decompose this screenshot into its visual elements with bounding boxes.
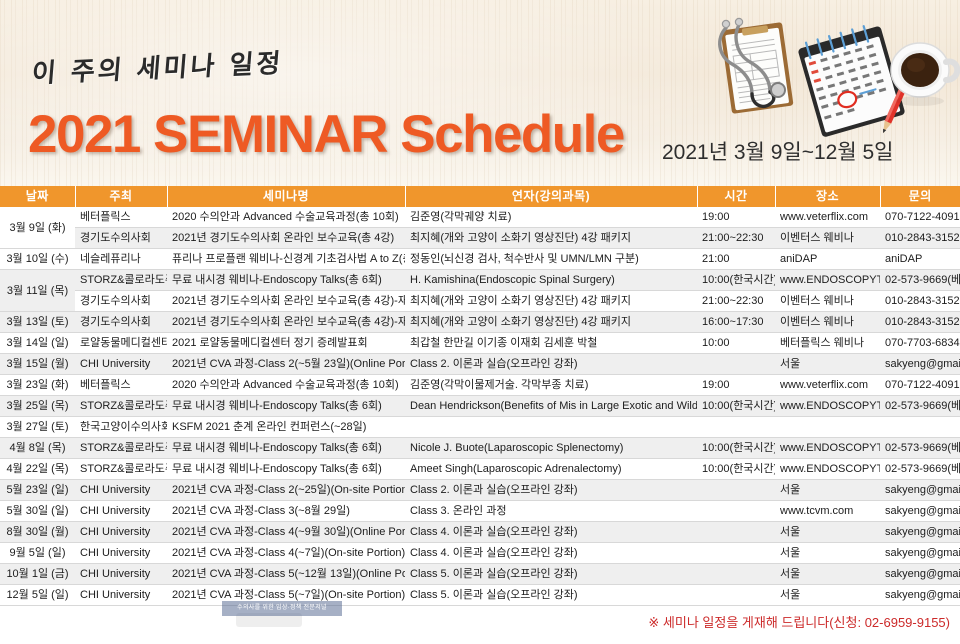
cell-place: 베터플릭스 웨비나 [775, 333, 880, 354]
cell-place: www.tcvm.com [775, 501, 880, 522]
cell-contact: sakyeng@gmail.com [880, 585, 960, 606]
date-month-day: 3월 25일 [6, 396, 48, 416]
cell-speaker: 최지혜(개와 고양이 소화기 영상진단) 4강 패키지 [405, 291, 697, 312]
table-row: 10월 1일(금)CHI University2021년 CVA 과정-Clas… [0, 564, 960, 585]
date-month-day: 4월 22일 [6, 459, 48, 479]
cell-time: 10:00(한국시간) [697, 459, 775, 480]
schedule-table: 날짜 주최 세미나명 연자(강의과목) 시간 장소 문의 3월 9일(화)베터플… [0, 186, 960, 606]
seminar-schedule-page: 이 주의 세미나 일정 2021 SEMINAR Schedule 2021년 … [0, 0, 960, 644]
date-month-day: 9월 5일 [10, 543, 46, 563]
cell-speaker: Dean Hendrickson(Benefits of Mis in Larg… [405, 396, 697, 417]
cell-date: 3월 25일(목) [0, 396, 75, 417]
cell-contact: 02-573-9669(베트컴) [880, 459, 960, 480]
cell-contact: 02-573-9669(베트컴) [880, 270, 960, 291]
date-weekday: (일) [51, 585, 68, 605]
footer-note: ※ 세미나 일정을 게재해 드립니다(신청: 02-6959-9155) [0, 606, 960, 631]
cell-seminar-name: 2020 수의안과 Advanced 수술교육과정(총 10회) [167, 375, 405, 396]
cell-speaker: Class 3. 온라인 과정 [405, 501, 697, 522]
cell-contact: 010-2843-3152(에듀켓) [880, 291, 960, 312]
cell-organizer: CHI University [75, 543, 167, 564]
header-korean-tagline: 이 주의 세미나 일정 [31, 43, 285, 91]
cell-seminar-name: 2021년 CVA 과정-Class 4(~7일)(On-site Portio… [167, 543, 405, 564]
cell-organizer: 베터플릭스 [75, 207, 167, 228]
cell-organizer: 네슬레퓨리나 [75, 249, 167, 270]
date-month-day: 12월 5일 [6, 585, 48, 605]
date-weekday: (월) [51, 522, 68, 542]
cell-speaker: Class 4. 이론과 실습(오프라인 강좌) [405, 543, 697, 564]
cell-speaker: Class 5. 이론과 실습(오프라인 강좌) [405, 585, 697, 606]
table-row: 3월 10일(수)네슬레퓨리나퓨리나 프로플랜 웨비나-신경계 기초검사법 A … [0, 249, 960, 270]
date-weekday: (일) [51, 480, 68, 500]
cell-organizer: 로얄동물메디컬센터 [75, 333, 167, 354]
cell-seminar-name: 2021년 CVA 과정-Class 5(~12월 13일)(Online Po… [167, 564, 405, 585]
cell-place: www.ENDOSCOPYTalks.com [775, 396, 880, 417]
cell-time [697, 585, 775, 606]
cell-place: www.ENDOSCOPYTalks.com [775, 459, 880, 480]
cell-time [697, 480, 775, 501]
cell-date: 3월 9일(화) [0, 207, 75, 249]
cell-place: 서울 [775, 585, 880, 606]
date-weekday: (목) [51, 459, 68, 479]
cell-date: 8월 30일(월) [0, 522, 75, 543]
col-header-place: 장소 [775, 186, 880, 207]
cell-contact: sakyeng@gmail.com [880, 522, 960, 543]
col-header-organizer: 주최 [75, 186, 167, 207]
table-body: 3월 9일(화)베터플릭스2020 수의안과 Advanced 수술교육과정(총… [0, 207, 960, 606]
cell-place: www.veterflix.com [775, 375, 880, 396]
cell-place: www.ENDOSCOPYTalks.com [775, 270, 880, 291]
page-header: 이 주의 세미나 일정 2021 SEMINAR Schedule 2021년 … [0, 0, 960, 186]
cell-organizer: 경기도수의사회 [75, 291, 167, 312]
table-row: 3월 14일(일)로얄동물메디컬센터2021 로얄동물메디컬센터 정기 증례발표… [0, 333, 960, 354]
cell-seminar-name: 2021년 경기도수의사회 온라인 보수교육(총 4강)-재방송(4강) [167, 291, 405, 312]
cell-speaker: H. Kamishina(Endoscopic Spinal Surgery) [405, 270, 697, 291]
cell-contact: 02-573-9669(베트컴) [880, 396, 960, 417]
cell-place: www.ENDOSCOPYTalks.com [775, 438, 880, 459]
cell-speaker: Class 4. 이론과 실습(오프라인 강좌) [405, 522, 697, 543]
cell-contact: 010-2843-3152(에듀켓) [880, 312, 960, 333]
date-weekday: (일) [51, 333, 68, 353]
cell-contact: 070-7122-4091 [880, 375, 960, 396]
cell-time [697, 501, 775, 522]
date-weekday: (화) [48, 218, 65, 238]
date-weekday: (토) [51, 417, 68, 437]
cell-organizer: 경기도수의사회 [75, 228, 167, 249]
col-header-date: 날짜 [0, 186, 75, 207]
cell-place [775, 417, 880, 438]
cell-time [697, 564, 775, 585]
table-row: 3월 13일(토)경기도수의사회2021년 경기도수의사회 온라인 보수교육(총… [0, 312, 960, 333]
cell-seminar-name: 2021 로얄동물메디컬센터 정기 증례발표회 [167, 333, 405, 354]
cell-seminar-name: 2021년 경기도수의사회 온라인 보수교육(총 4강)-재방송(4강) [167, 312, 405, 333]
date-weekday: (토) [51, 312, 68, 332]
cell-contact: 010-2843-3152(에듀켓) [880, 228, 960, 249]
date-weekday: (목) [51, 281, 68, 301]
date-weekday: (월) [51, 354, 68, 374]
cell-organizer: STORZ&콜로라도주립대 [75, 270, 167, 291]
cell-speaker: 김준영(각막궤양 치료) [405, 207, 697, 228]
cell-place: 서울 [775, 480, 880, 501]
cell-speaker: 김준영(각막이물제거술. 각막부종 치료) [405, 375, 697, 396]
cell-time: 21:00 [697, 249, 775, 270]
date-month-day: 3월 11일 [7, 281, 48, 301]
table-header-row: 날짜 주최 세미나명 연자(강의과목) 시간 장소 문의 [0, 186, 960, 207]
cell-date: 3월 14일(일) [0, 333, 75, 354]
table-row: 8월 30일(월)CHI University2021년 CVA 과정-Clas… [0, 522, 960, 543]
cell-organizer: CHI University [75, 480, 167, 501]
cell-contact: sakyeng@gmail.com [880, 543, 960, 564]
table-row: 경기도수의사회2021년 경기도수의사회 온라인 보수교육(총 4강)-재방송(… [0, 291, 960, 312]
date-weekday: (화) [51, 375, 68, 395]
cell-speaker [405, 417, 697, 438]
cell-place: 이벤터스 웨비나 [775, 291, 880, 312]
cell-place: www.veterflix.com [775, 207, 880, 228]
date-month-day: 3월 9일 [10, 218, 46, 238]
cell-contact: aniDAP [880, 249, 960, 270]
cell-speaker: 최지혜(개와 고양이 소화기 영상진단) 4강 패키지 [405, 312, 697, 333]
cell-date: 3월 11일(목) [0, 270, 75, 312]
date-weekday: (일) [48, 543, 65, 563]
date-month-day: 3월 23일 [6, 375, 48, 395]
cell-place: 이벤터스 웨비나 [775, 312, 880, 333]
col-header-seminar-name: 세미나명 [167, 186, 405, 207]
cell-seminar-name: 퓨리나 프로플랜 웨비나-신경계 기초검사법 A to Z(총 3강) [167, 249, 405, 270]
cell-organizer: CHI University [75, 585, 167, 606]
cell-seminar-name: 무료 내시경 웨비나-Endoscopy Talks(총 6회) [167, 438, 405, 459]
table-row: 3월 9일(화)베터플릭스2020 수의안과 Advanced 수술교육과정(총… [0, 207, 960, 228]
date-month-day: 4월 8일 [10, 438, 46, 458]
cell-contact: sakyeng@gmail.com [880, 354, 960, 375]
cell-organizer: STORZ&콜로라도주립대 [75, 459, 167, 480]
cell-organizer: STORZ&콜로라도주립대 [75, 396, 167, 417]
cell-seminar-name: 2020 수의안과 Advanced 수술교육과정(총 10회) [167, 207, 405, 228]
cell-contact: 070-7703-6834 [880, 333, 960, 354]
cell-seminar-name: 2021년 CVA 과정-Class 4(~9월 30일)(Online Por… [167, 522, 405, 543]
table-row: 3월 23일(화)베터플릭스2020 수의안과 Advanced 수술교육과정(… [0, 375, 960, 396]
cell-place: 서울 [775, 543, 880, 564]
col-header-contact: 문의 [880, 186, 960, 207]
date-month-day: 3월 14일 [6, 333, 48, 353]
cell-speaker: Class 2. 이론과 실습(오프라인 강좌) [405, 480, 697, 501]
cell-seminar-name: 무료 내시경 웨비나-Endoscopy Talks(총 6회) [167, 459, 405, 480]
cell-date: 5월 23일(일) [0, 480, 75, 501]
cell-seminar-name: 무료 내시경 웨비나-Endoscopy Talks(총 6회) [167, 396, 405, 417]
cell-contact: sakyeng@gmail.com [880, 501, 960, 522]
col-header-time: 시간 [697, 186, 775, 207]
cell-seminar-name: 2021년 경기도수의사회 온라인 보수교육(총 4강) [167, 228, 405, 249]
date-weekday: (수) [51, 249, 68, 269]
cell-date: 3월 13일(토) [0, 312, 75, 333]
cell-date: 4월 8일(목) [0, 438, 75, 459]
cell-time: 16:00~17:30 [697, 312, 775, 333]
cell-seminar-name: 2021년 CVA 과정-Class 5(~7일)(On-site Portio… [167, 585, 405, 606]
cell-speaker: 최갑철 한만길 이기종 이재회 김세훈 박철 [405, 333, 697, 354]
cell-date: 9월 5일(일) [0, 543, 75, 564]
schedule-table-wrapper: 날짜 주최 세미나명 연자(강의과목) 시간 장소 문의 3월 9일(화)베터플… [0, 186, 960, 631]
table-row: 3월 15일(월)CHI University2021년 CVA 과정-Clas… [0, 354, 960, 375]
date-month-day: 5월 23일 [6, 480, 48, 500]
cell-place: 서울 [775, 564, 880, 585]
header-date-range: 2021년 3월 9일~12월 5일 [662, 136, 893, 166]
cell-time: 19:00 [697, 375, 775, 396]
table-row: 3월 27일(토)한국고양이수의사회KSFM 2021 춘계 온라인 컨퍼런스(… [0, 417, 960, 438]
date-weekday: (목) [51, 396, 68, 416]
table-row: 4월 22일(목)STORZ&콜로라도주립대무료 내시경 웨비나-Endosco… [0, 459, 960, 480]
cell-date: 3월 27일(토) [0, 417, 75, 438]
cell-seminar-name: 무료 내시경 웨비나-Endoscopy Talks(총 6회) [167, 270, 405, 291]
cell-time: 10:00 [697, 333, 775, 354]
table-row: 4월 8일(목)STORZ&콜로라도주립대무료 내시경 웨비나-Endoscop… [0, 438, 960, 459]
cell-place: 서울 [775, 354, 880, 375]
date-month-day: 3월 27일 [6, 417, 48, 437]
cell-time [697, 354, 775, 375]
cell-time [697, 522, 775, 543]
cell-organizer: 경기도수의사회 [75, 312, 167, 333]
date-month-day: 10월 1일 [6, 564, 48, 584]
cell-contact: 070-7122-4091 [880, 207, 960, 228]
table-row: 5월 23일(일)CHI University2021년 CVA 과정-Clas… [0, 480, 960, 501]
table-row: 9월 5일(일)CHI University2021년 CVA 과정-Class… [0, 543, 960, 564]
cell-organizer: CHI University [75, 522, 167, 543]
cell-time: 10:00(한국시간) [697, 438, 775, 459]
cell-seminar-name: KSFM 2021 춘계 온라인 컨퍼런스(~28일) [167, 417, 405, 438]
cell-time [697, 543, 775, 564]
cell-time: 10:00(한국시간) [697, 270, 775, 291]
cell-organizer: CHI University [75, 354, 167, 375]
cell-speaker: Class 2. 이론과 실습(오프라인 강좌) [405, 354, 697, 375]
cell-date: 12월 5일(일) [0, 585, 75, 606]
cell-date: 5월 30일(일) [0, 501, 75, 522]
cell-time: 21:00~22:30 [697, 291, 775, 312]
cell-speaker: 최지혜(개와 고양이 소화기 영상진단) 4강 패키지 [405, 228, 697, 249]
table-row: 5월 30일(일)CHI University2021년 CVA 과정-Clas… [0, 501, 960, 522]
table-row: 3월 25일(목)STORZ&콜로라도주립대무료 내시경 웨비나-Endosco… [0, 396, 960, 417]
cell-date: 3월 10일(수) [0, 249, 75, 270]
cell-place: 서울 [775, 522, 880, 543]
desk-illustration [690, 0, 960, 150]
cell-place: aniDAP [775, 249, 880, 270]
table-row: 경기도수의사회2021년 경기도수의사회 온라인 보수교육(총 4강)최지혜(개… [0, 228, 960, 249]
date-month-day: 8월 30일 [6, 522, 48, 542]
page-title: 2021 SEMINAR Schedule [28, 104, 624, 165]
cell-organizer: STORZ&콜로라도주립대 [75, 438, 167, 459]
cell-time: 21:00~22:30 [697, 228, 775, 249]
date-month-day: 3월 10일 [6, 249, 48, 269]
date-weekday: (일) [51, 501, 68, 521]
cell-organizer: 베터플릭스 [75, 375, 167, 396]
date-month-day: 5월 30일 [6, 501, 48, 521]
cell-organizer: CHI University [75, 501, 167, 522]
date-weekday: (금) [51, 564, 68, 584]
cell-speaker: Nicole J. Buote(Laparoscopic Splenectomy… [405, 438, 697, 459]
cell-contact: sakyeng@gmail.com [880, 480, 960, 501]
cell-time: 10:00(한국시간) [697, 396, 775, 417]
cell-organizer: CHI University [75, 564, 167, 585]
cell-speaker: Ameet Singh(Laparoscopic Adrenalectomy) [405, 459, 697, 480]
cell-contact: 02-573-9669(베트컴) [880, 438, 960, 459]
date-month-day: 3월 15일 [6, 354, 48, 374]
table-row: 3월 11일(목)STORZ&콜로라도주립대무료 내시경 웨비나-Endosco… [0, 270, 960, 291]
cell-date: 4월 22일(목) [0, 459, 75, 480]
cell-date: 3월 23일(화) [0, 375, 75, 396]
date-weekday: (목) [48, 438, 65, 458]
cell-place: 이벤터스 웨비나 [775, 228, 880, 249]
cell-date: 10월 1일(금) [0, 564, 75, 585]
cell-organizer: 한국고양이수의사회 [75, 417, 167, 438]
table-row: 12월 5일(일)CHI University2021년 CVA 과정-Clas… [0, 585, 960, 606]
date-month-day: 3월 13일 [6, 312, 48, 332]
cell-speaker: 정동인(뇌신경 검사, 척수반사 및 UMN/LMN 구분) [405, 249, 697, 270]
cell-seminar-name: 2021년 CVA 과정-Class 2(~5월 23일)(Online Por… [167, 354, 405, 375]
cell-contact [880, 417, 960, 438]
cell-date: 3월 15일(월) [0, 354, 75, 375]
cell-time [697, 417, 775, 438]
cell-seminar-name: 2021년 CVA 과정-Class 2(~25일)(On-site Porti… [167, 480, 405, 501]
col-header-speaker: 연자(강의과목) [405, 186, 697, 207]
cell-seminar-name: 2021년 CVA 과정-Class 3(~8월 29일) [167, 501, 405, 522]
cell-contact: sakyeng@gmail.com [880, 564, 960, 585]
cell-time: 19:00 [697, 207, 775, 228]
cell-speaker: Class 5. 이론과 실습(오프라인 강좌) [405, 564, 697, 585]
